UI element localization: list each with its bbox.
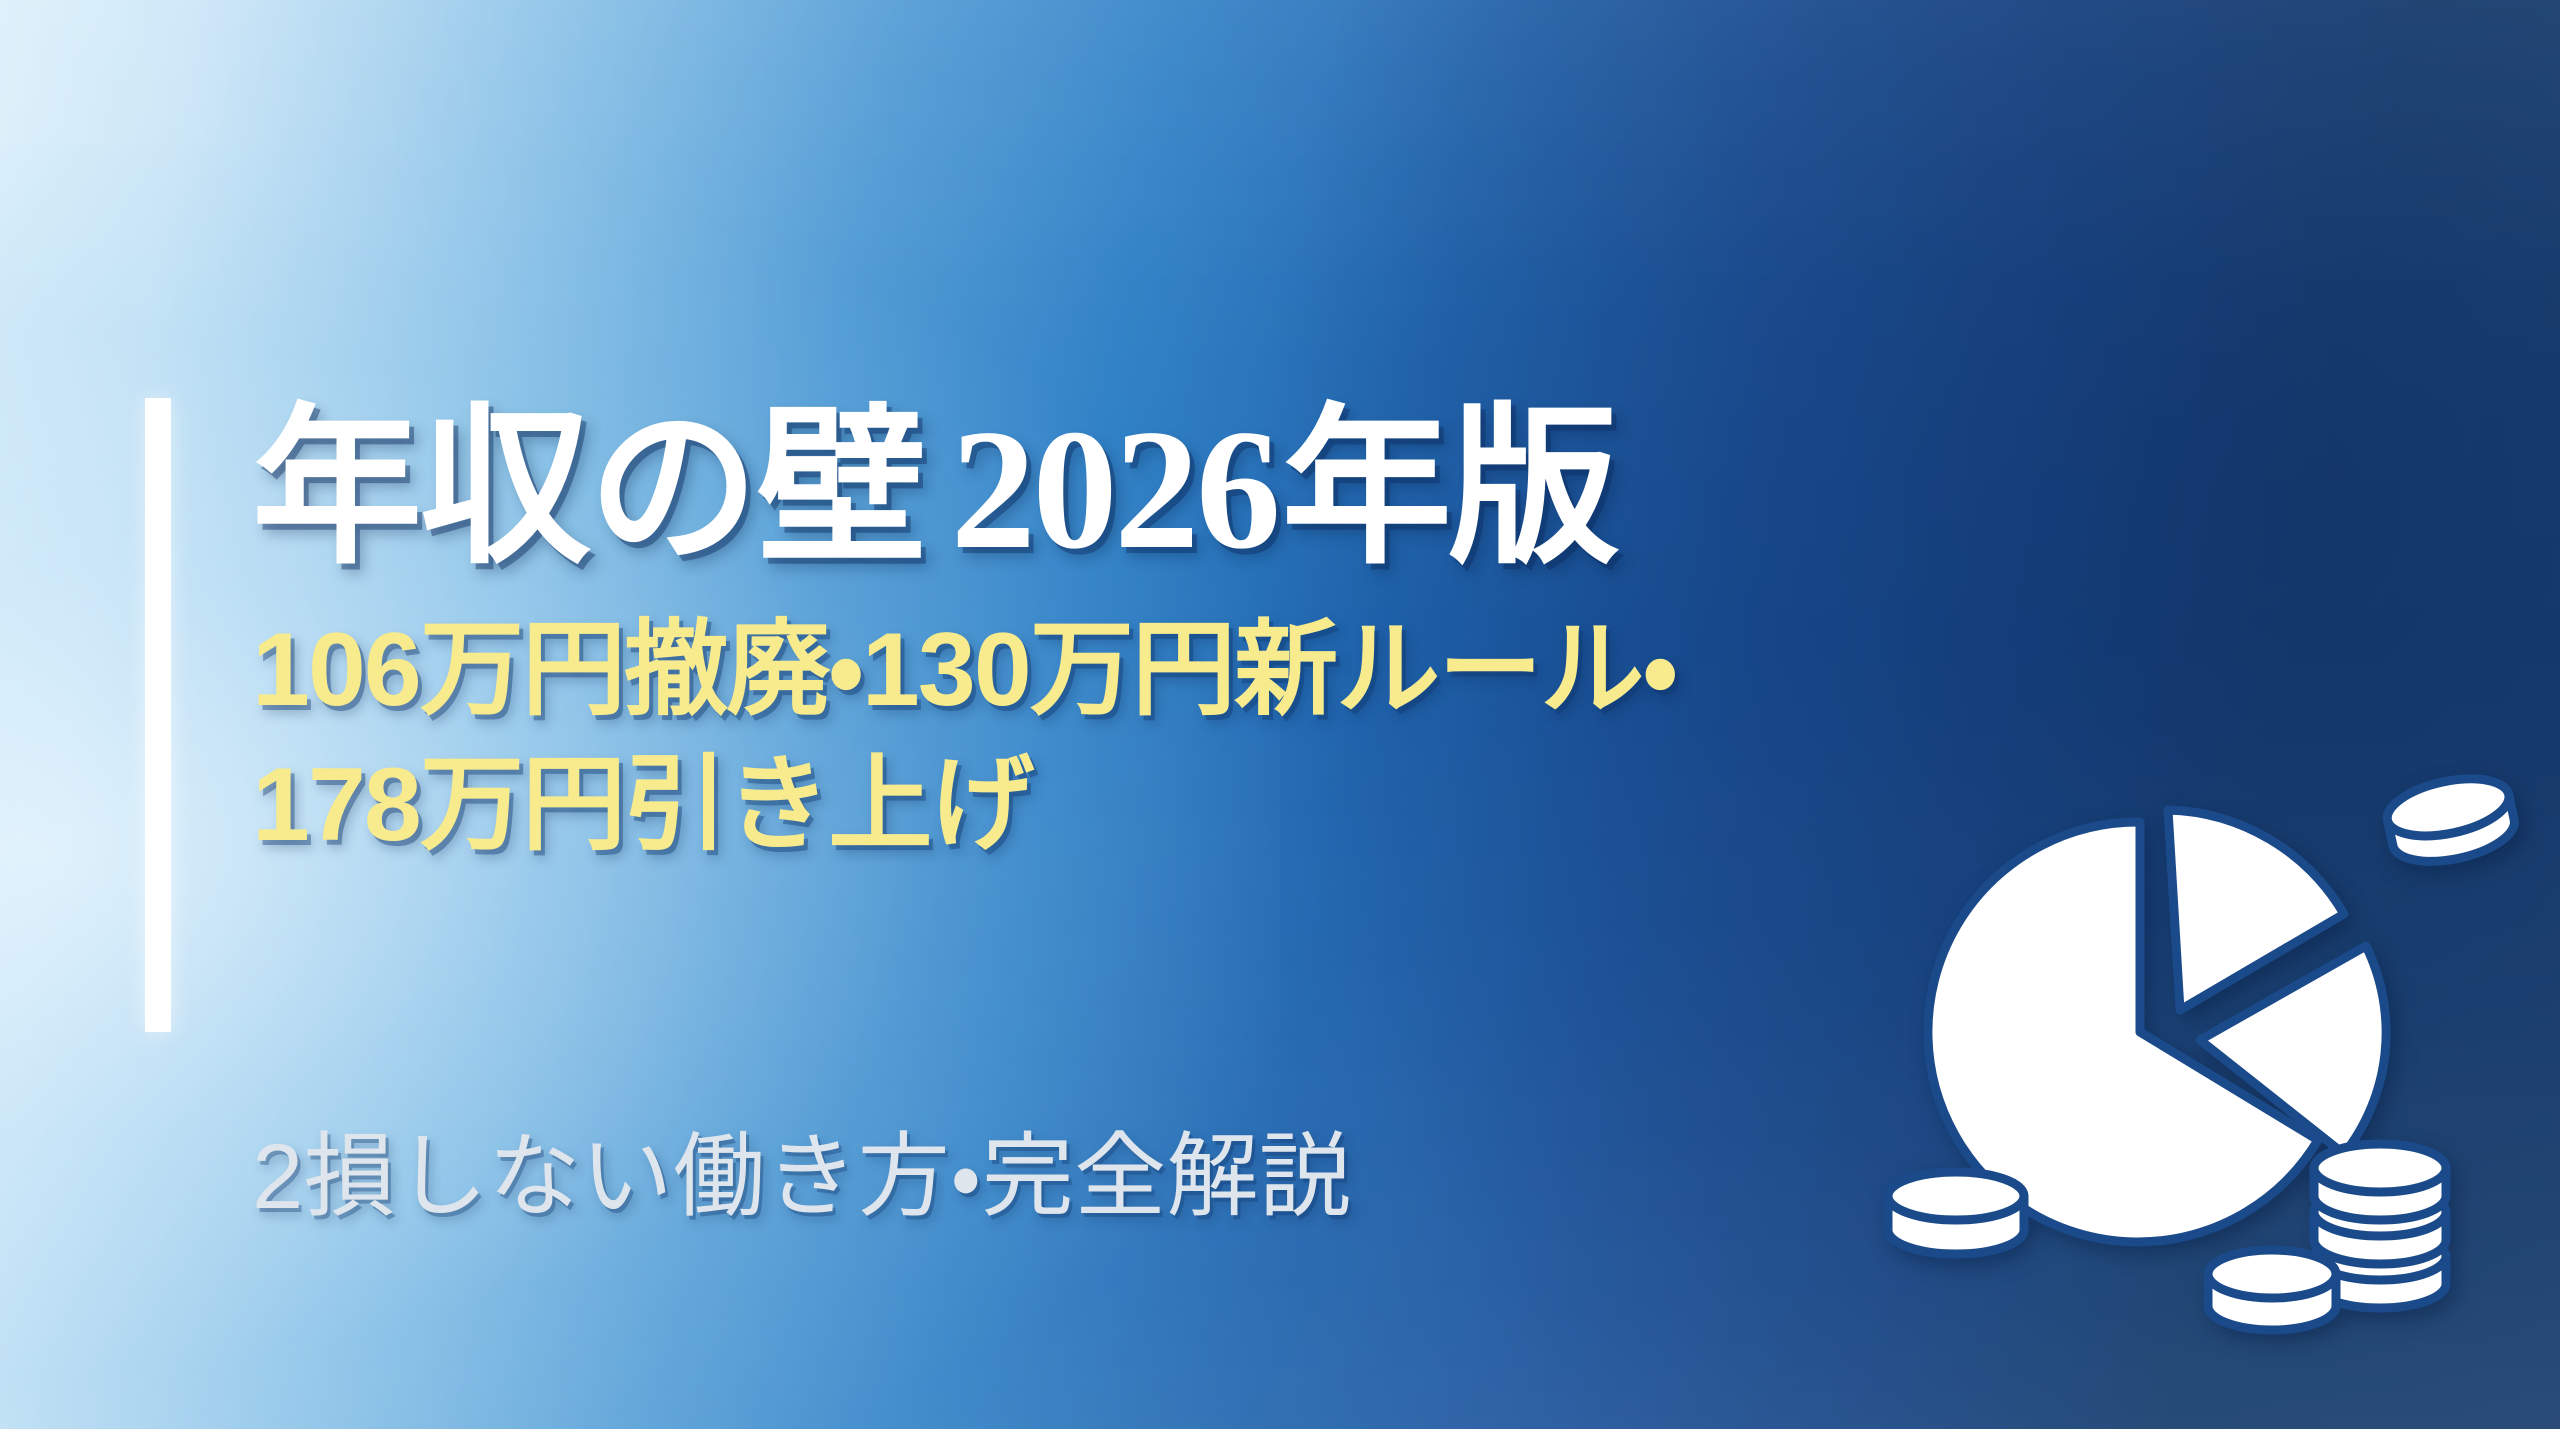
coin-floating-top-right [2382, 769, 2520, 871]
pie-chart-with-coins-icon [1878, 730, 2538, 1370]
banner-canvas: 年収の壁2026年版 106万円撤廃・130万円新ルール・ 178万円引き上げ … [0, 0, 2560, 1429]
page-title-year: 2026 [925, 395, 1282, 585]
tagline: 2損しない働き方・完全解説 [252, 1127, 1351, 1228]
coin-bottom-center [2208, 1250, 2336, 1330]
subtitle-line-1: 106万円撤廃・130万円新ルール・ [252, 603, 2252, 738]
page-title-jp-suffix: 年版 [1282, 392, 1616, 584]
page-title-jp-prefix: 年収の壁 [252, 392, 925, 584]
coin-bottom-left [1888, 1172, 2024, 1254]
left-accent-bar [145, 398, 171, 1032]
page-title: 年収の壁2026年版 [252, 398, 2232, 581]
